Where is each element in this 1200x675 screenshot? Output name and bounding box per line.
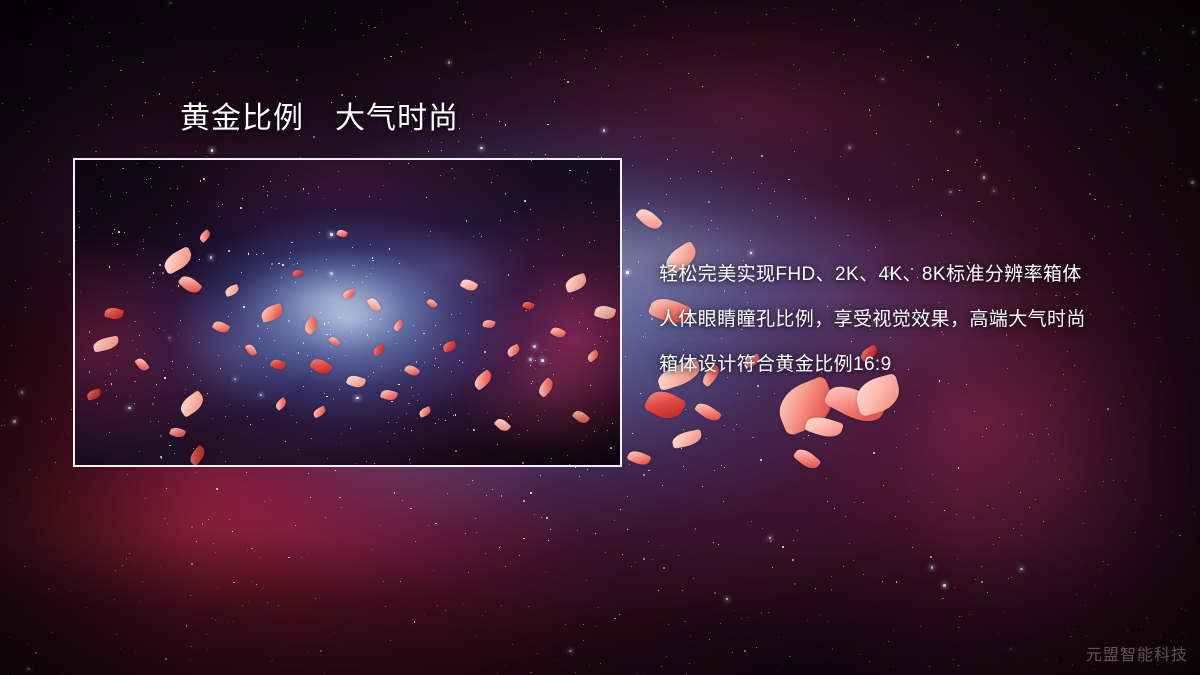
body-line-2: 人体眼睛瞳孔比例，享受视觉效果，高端大气时尚 — [659, 297, 1179, 342]
picture-content — [75, 160, 620, 465]
watermark: 元盟智能科技 — [1086, 641, 1188, 665]
body-copy: 轻松完美实现FHD、2K、4K、8K标准分辨率箱体 人体眼睛瞳孔比例，享受视觉效… — [659, 252, 1179, 387]
picture-vignette — [75, 160, 620, 465]
body-line-1: 轻松完美实现FHD、2K、4K、8K标准分辨率箱体 — [659, 252, 1179, 297]
petal — [671, 429, 703, 449]
petal — [694, 400, 722, 425]
petal — [627, 448, 652, 468]
slide-title: 黄金比例 大气时尚 — [180, 102, 459, 136]
petal — [793, 445, 822, 472]
presentation-slide: 黄金比例 大气时尚 轻松完美实现FHD、2K、4K、8K标准分辨率箱体 人体眼睛… — [0, 0, 1200, 675]
petal — [635, 205, 663, 233]
petal — [804, 413, 844, 441]
body-line-3: 箱体设计符合黄金比例16:9 — [659, 342, 1179, 387]
framed-picture — [73, 158, 622, 467]
petal — [643, 385, 687, 425]
